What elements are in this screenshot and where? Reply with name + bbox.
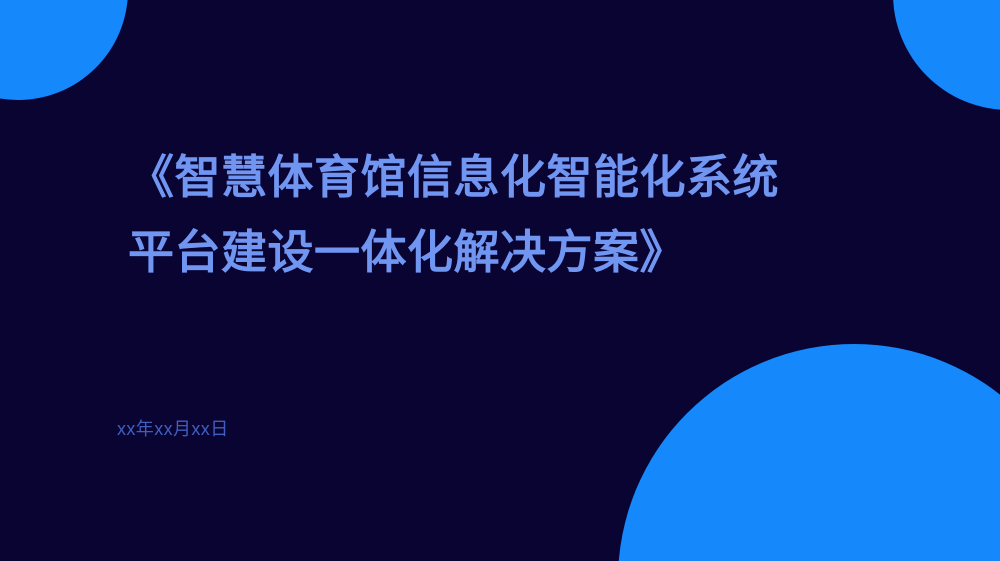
title-slide: 《智慧体育馆信息化智能化系统 平台建设一体化解决方案》 xx年xx月xx日 (0, 0, 1000, 561)
page-title: 《智慧体育馆信息化智能化系统 平台建设一体化解决方案》 (128, 140, 908, 289)
decorative-circle-bottom-right (618, 344, 1000, 561)
decorative-circle-top-left (0, 0, 128, 100)
decorative-circle-top-right (893, 0, 1000, 110)
title-block: 《智慧体育馆信息化智能化系统 平台建设一体化解决方案》 (128, 140, 908, 289)
slide-date: xx年xx月xx日 (117, 417, 229, 442)
